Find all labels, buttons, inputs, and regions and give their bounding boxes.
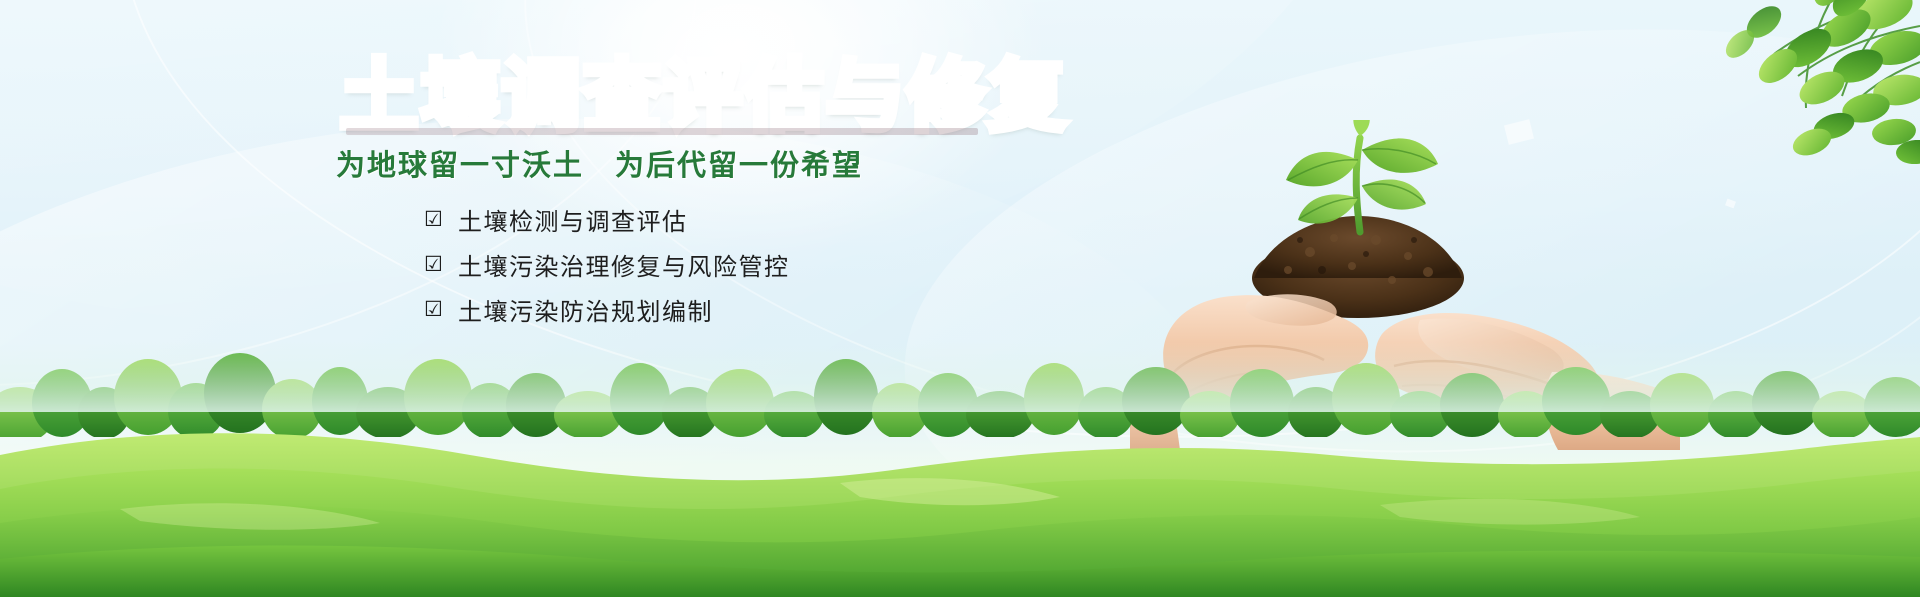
confetti-square-1 [1504, 119, 1534, 145]
ground-scene [0, 337, 1920, 597]
page-subtitle: 为地球留一寸沃土 为后代留一份希望 [336, 142, 863, 184]
grass-hills [0, 397, 1920, 597]
list-item-label: 土壤污染防治规划编制 [458, 292, 713, 327]
list-item: ☑ 土壤污染防治规划编制 [424, 292, 790, 326]
list-item-label: 土壤污染治理修复与风险管控 [458, 247, 790, 282]
confetti-square-3 [1725, 199, 1736, 209]
checkbox-checked-icon: ☑ [424, 299, 458, 320]
list-item: ☑ 土壤检测与调查评估 [424, 202, 790, 236]
hero-text-block: 土壤调查评估与修复 土壤调查评估与修复 为地球留一寸沃土 为后代留一份希望 ☑ … [0, 0, 1180, 360]
feature-list: ☑ 土壤检测与调查评估 ☑ 土壤污染治理修复与风险管控 ☑ 土壤污染防治规划编制 [424, 202, 790, 337]
list-item-label: 土壤检测与调查评估 [458, 202, 688, 237]
banner-hero: 土壤调查评估与修复 土壤调查评估与修复 为地球留一寸沃土 为后代留一份希望 ☑ … [0, 0, 1920, 597]
leaves-decoration [1360, 0, 1920, 222]
title-underline [346, 128, 978, 135]
checkbox-checked-icon: ☑ [424, 254, 458, 275]
list-item: ☑ 土壤污染治理修复与风险管控 [424, 247, 790, 281]
confetti-square-2 [1291, 175, 1302, 185]
checkbox-checked-icon: ☑ [424, 209, 458, 230]
